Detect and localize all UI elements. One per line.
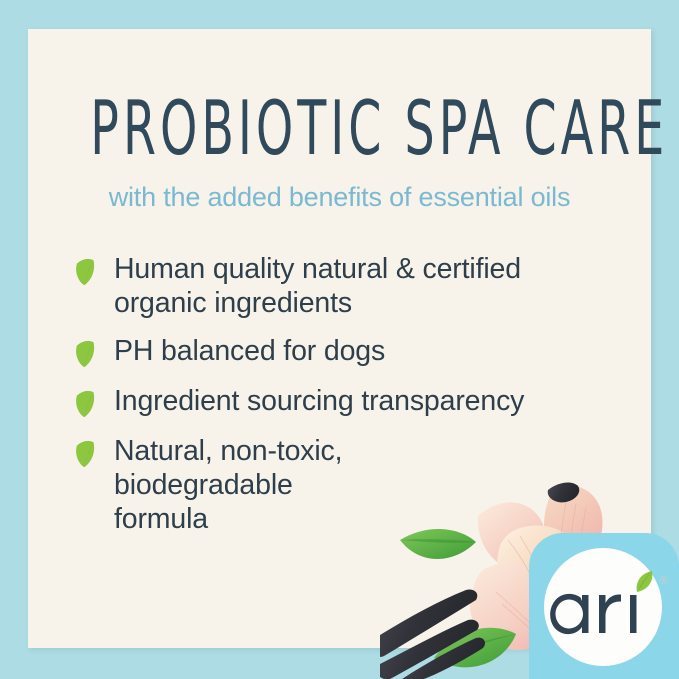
- brand-logo-badge[interactable]: ®: [529, 533, 679, 679]
- leaf-icon: [74, 384, 114, 420]
- benefits-list: Human quality natural & certified organi…: [74, 252, 614, 550]
- leaf-icon: [74, 434, 114, 470]
- list-item-label: Ingredient sourcing transparency: [114, 384, 614, 418]
- page-title: PROBIOTIC SPA CARE: [90, 88, 588, 170]
- logo-circle: ®: [544, 548, 662, 666]
- leaf-icon: [74, 252, 114, 288]
- page-subtitle: with the added benefits of essential oil…: [28, 181, 651, 213]
- list-item: Human quality natural & certified organi…: [74, 252, 614, 320]
- registered-trademark-icon: ®: [660, 576, 668, 587]
- list-item-label: Human quality natural & certified organi…: [114, 252, 614, 320]
- leaf-icon: [74, 334, 114, 370]
- logo-wordmark: [544, 548, 662, 666]
- list-item-label: Natural, non-toxic, biodegradable formul…: [114, 434, 374, 536]
- list-item: Natural, non-toxic, biodegradable formul…: [74, 434, 614, 536]
- list-item: Ingredient sourcing transparency: [74, 384, 614, 420]
- list-item: PH balanced for dogs: [74, 334, 614, 370]
- product-infographic: PROBIOTIC SPA CARE with the added benefi…: [0, 0, 679, 679]
- list-item-label: PH balanced for dogs: [114, 334, 614, 368]
